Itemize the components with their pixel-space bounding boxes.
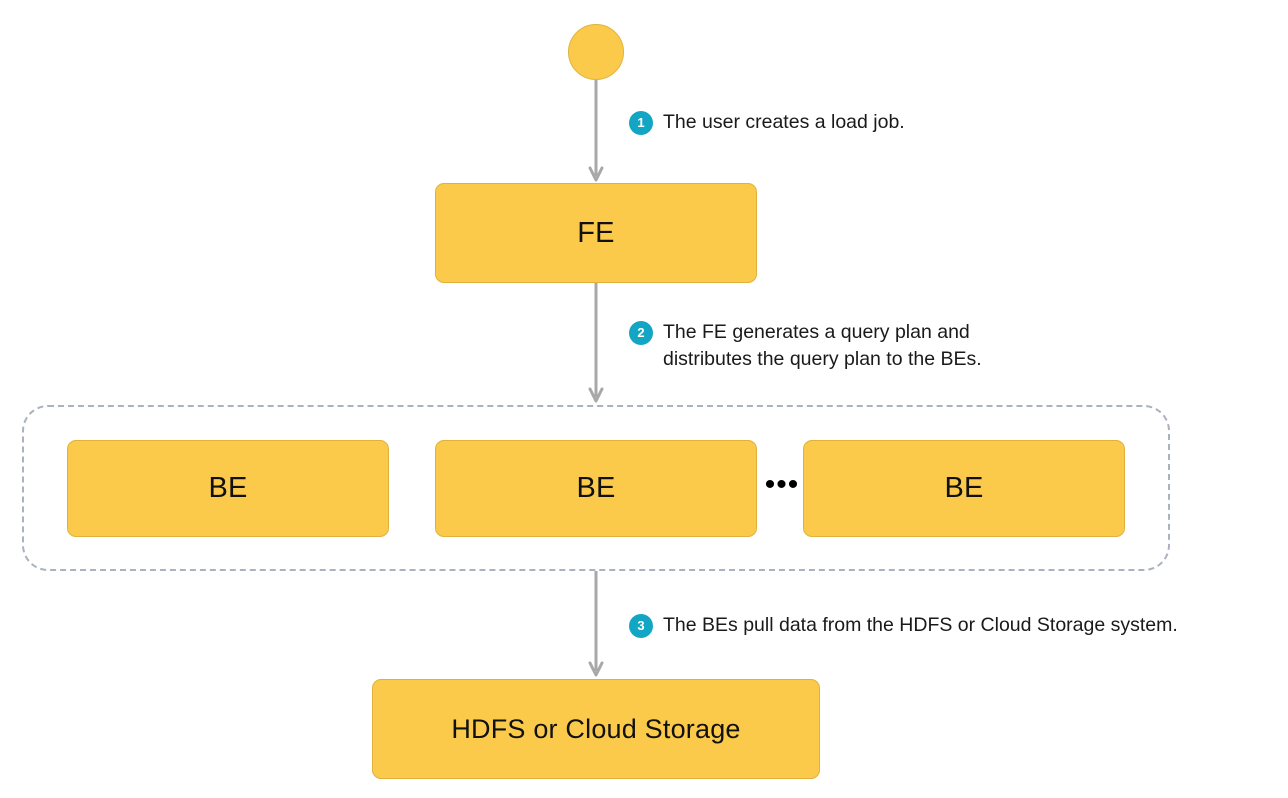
be-ellipsis: ••• [764, 475, 800, 503]
node-fe: FE [435, 183, 757, 283]
node-be-1: BE [67, 440, 389, 537]
step-2-badge: 2 [629, 321, 653, 345]
node-be-1-label: BE [208, 474, 247, 503]
step-1: 1 The user creates a load job. [629, 109, 905, 136]
node-be-3-label: BE [944, 474, 983, 503]
step-1-badge: 1 [629, 111, 653, 135]
node-be-3: BE [803, 440, 1125, 537]
node-be-2-label: BE [576, 474, 615, 503]
node-be-2: BE [435, 440, 757, 537]
arrow-fe-to-be [589, 283, 603, 405]
step-2-text: The FE generates a query plan and distri… [663, 319, 982, 373]
step-2: 2 The FE generates a query plan and dist… [629, 319, 982, 373]
step-3: 3 The BEs pull data from the HDFS or Clo… [629, 612, 1178, 639]
step-1-text: The user creates a load job. [663, 109, 905, 136]
arrow-start-to-fe [589, 80, 603, 184]
node-fe-label: FE [577, 219, 614, 248]
arrow-be-to-storage [589, 571, 603, 679]
step-3-badge: 3 [629, 614, 653, 638]
start-node [568, 24, 624, 80]
diagram-canvas: 1 The user creates a load job. FE 2 The … [0, 0, 1288, 798]
node-storage: HDFS or Cloud Storage [372, 679, 820, 779]
step-3-text: The BEs pull data from the HDFS or Cloud… [663, 612, 1178, 639]
node-storage-label: HDFS or Cloud Storage [451, 716, 740, 743]
